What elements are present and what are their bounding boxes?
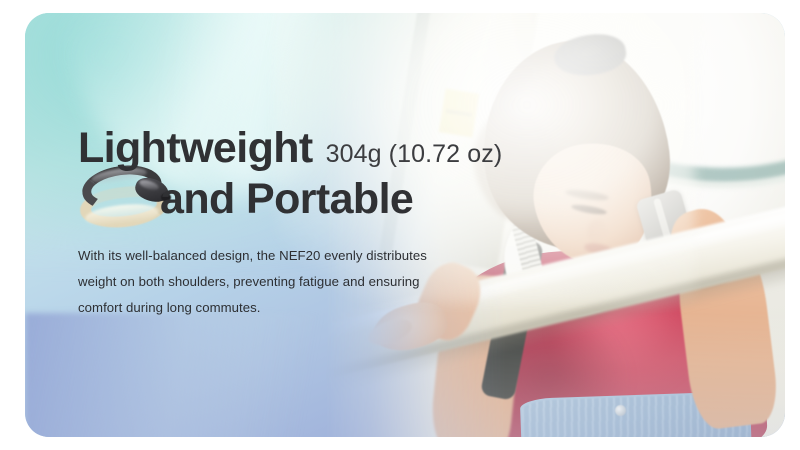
- promo-card: Lightweight 304g (10.72 oz) and Portable…: [25, 13, 785, 437]
- headline-line-2: and Portable: [160, 177, 548, 222]
- body-copy-block: With its well-balanced design, the NEF20…: [78, 243, 478, 321]
- headline-primary-text: Lightweight: [78, 126, 313, 171]
- promo-banner: Lightweight 304g (10.72 oz) and Portable…: [0, 0, 800, 450]
- body-copy-line: weight on both shoulders, preventing fat…: [78, 269, 478, 295]
- body-copy-line: comfort during long commutes.: [78, 295, 478, 321]
- bottom-blue-overlay: [25, 313, 485, 437]
- body-copy-line: With its well-balanced design, the NEF20…: [78, 243, 478, 269]
- weight-spec-text: 304g (10.72 oz): [326, 142, 503, 167]
- headline-block: Lightweight 304g (10.72 oz) and Portable: [78, 126, 548, 222]
- headline-line-1: Lightweight 304g (10.72 oz): [78, 126, 548, 171]
